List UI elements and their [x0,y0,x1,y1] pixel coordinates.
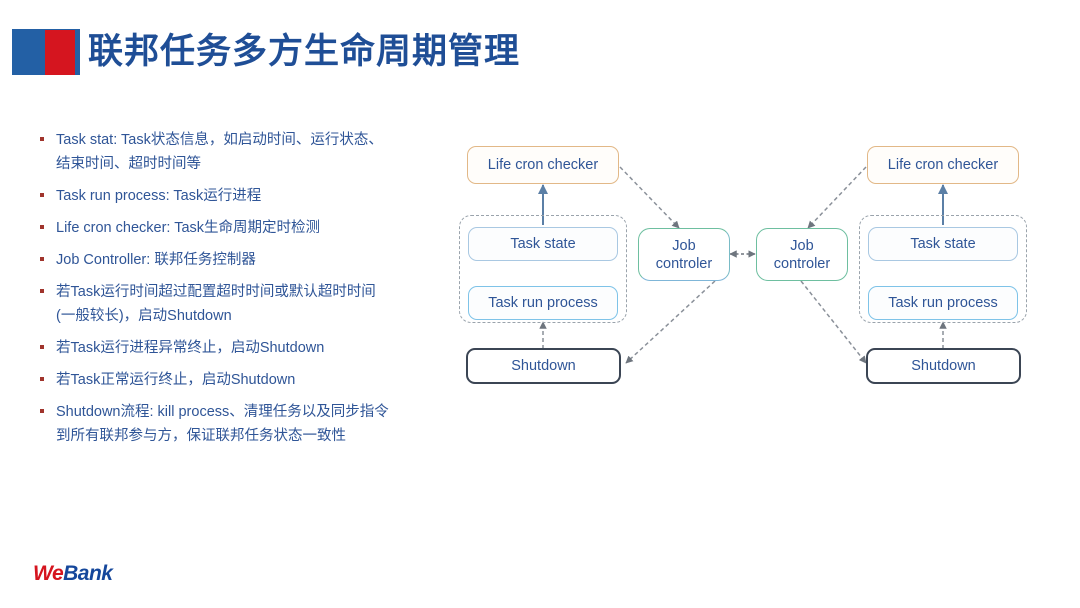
node-right-life-cron-checker[interactable]: Life cron checker [867,146,1019,184]
bullet-marker-icon [40,409,44,413]
node-left-shutdown[interactable]: Shutdown [466,348,621,384]
node-left-job-controler[interactable]: Job controler [638,228,730,281]
node-label: Task run process [488,294,598,312]
list-item: 若Task正常运行终止，启动Shutdown [38,368,458,392]
list-item-label: Task run process: Task运行进程 [56,184,458,208]
list-item: Shutdown流程: kill process、清理任务以及同步指令 到所有联… [38,400,458,448]
webank-logo-bank: Bank [63,562,112,585]
webank-logo: WeBank [33,562,112,586]
connector-right-jobcontroler-to-shutdown [801,281,866,363]
group-right-task-container [859,215,1027,323]
list-item: 若Task运行时间超过配置超时时间或默认超时时间 (一般较长)，启动Shutdo… [38,280,458,328]
node-label: Shutdown [511,357,576,375]
node-label: Shutdown [911,357,976,375]
connector-left-lifecron-to-jobcontroler [620,167,679,228]
list-item-label: 若Task正常运行终止，启动Shutdown [56,368,458,392]
node-right-task-run-process[interactable]: Task run process [868,286,1018,320]
bullet-marker-icon [40,193,44,197]
node-label: Job controler [656,237,712,273]
bullet-list: Task stat: Task状态信息，如启动时间、运行状态、 结束时间、超时时… [38,128,458,456]
webank-logo-we: We [33,562,63,585]
list-item: Task stat: Task状态信息，如启动时间、运行状态、 结束时间、超时时… [38,128,458,176]
group-left-task-container [459,215,627,323]
slide-header: 联邦任务多方生命周期管理 [0,0,1080,100]
list-item-label: Shutdown流程: kill process、清理任务以及同步指令 到所有联… [56,400,458,448]
node-right-shutdown[interactable]: Shutdown [866,348,1021,384]
bullet-marker-icon [40,289,44,293]
bullet-marker-icon [40,137,44,141]
list-item-label: 若Task运行进程异常终止，启动Shutdown [56,336,458,360]
connector-left-jobcontroler-to-shutdown [626,281,715,363]
list-item: Job Controller: 联邦任务控制器 [38,248,458,272]
list-item: Task run process: Task运行进程 [38,184,458,208]
node-right-job-controler[interactable]: Job controler [756,228,848,281]
node-label: Job controler [774,237,830,273]
list-item-label: Life cron checker: Task生命周期定时检测 [56,216,458,240]
node-left-task-state[interactable]: Task state [468,227,618,261]
page-title: 联邦任务多方生命周期管理 [88,29,520,75]
node-left-life-cron-checker[interactable]: Life cron checker [467,146,619,184]
list-item-label: Job Controller: 联邦任务控制器 [56,248,458,272]
node-label: Life cron checker [888,156,998,174]
node-label: Task state [510,235,575,253]
brand-mark-red-block [45,30,75,75]
node-label: Task state [910,235,975,253]
bullet-marker-icon [40,377,44,381]
connector-right-lifecron-to-jobcontroler [808,167,866,228]
list-item: 若Task运行进程异常终止，启动Shutdown [38,336,458,360]
bullet-marker-icon [40,225,44,229]
node-left-task-run-process[interactable]: Task run process [468,286,618,320]
list-item-label: Task stat: Task状态信息，如启动时间、运行状态、 结束时间、超时时… [56,128,458,176]
list-item: Life cron checker: Task生命周期定时检测 [38,216,458,240]
brand-mark-icon [12,29,80,75]
node-label: Life cron checker [488,156,598,174]
bullet-marker-icon [40,345,44,349]
node-right-task-state[interactable]: Task state [868,227,1018,261]
list-item-label: 若Task运行时间超过配置超时时间或默认超时时间 (一般较长)，启动Shutdo… [56,280,458,328]
node-label: Task run process [888,294,998,312]
bullet-marker-icon [40,257,44,261]
